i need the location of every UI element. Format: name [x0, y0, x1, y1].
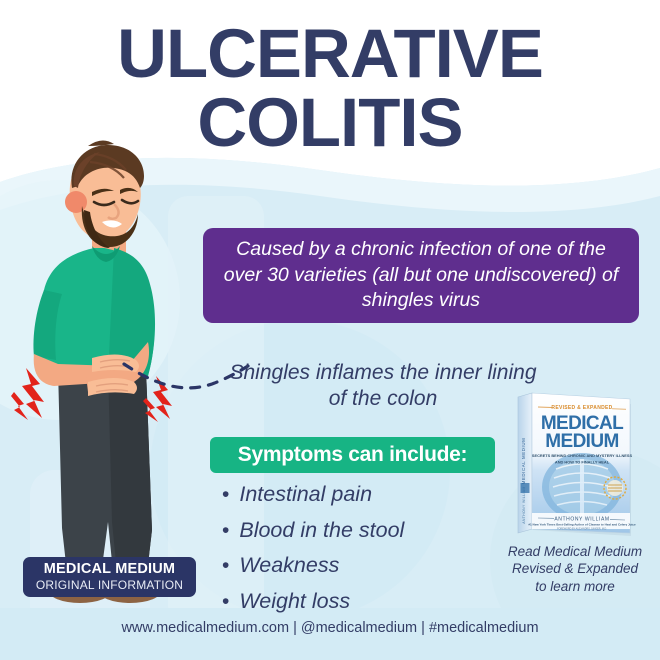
symptom-label: Intestinal pain [239, 484, 372, 506]
bullet-icon: • [222, 484, 229, 505]
bullet-icon: • [222, 555, 229, 576]
shingles-note: Shingles inflames the inner lining of th… [228, 360, 538, 413]
book-author-credit: #1 New York Times Best-Selling Author of… [528, 523, 636, 527]
book-foreword: FOREWORD BY ALEJANDRO JUNGER, M.D. [557, 528, 607, 531]
book-subtitle-line2: AND HOW TO FINALLY HEAL [555, 460, 610, 465]
symptoms-header-badge: Symptoms can include: [210, 437, 495, 473]
cause-card-text: Caused by a chronic infection of one of … [203, 237, 639, 315]
book-spine-title: MEDICAL MEDIUM [521, 438, 526, 485]
list-item: • Intestinal pain [222, 484, 404, 506]
symptoms-header-label: Symptoms can include: [238, 443, 467, 467]
symptom-label: Blood in the stool [239, 520, 404, 542]
symptom-label: Weight loss [239, 591, 350, 613]
list-item: • Blood in the stool [222, 520, 404, 542]
book-cover[interactable]: MEDICAL MEDIUM ANTHONY WILLIAM REVISED &… [512, 387, 636, 539]
badge-line-2: ORIGINAL INFORMATION [36, 579, 183, 593]
book-caption: Read Medical Medium Revised & Expanded t… [505, 543, 645, 595]
cause-card: Caused by a chronic infection of one of … [203, 228, 639, 323]
list-item: • Weakness [222, 555, 404, 577]
footer-links[interactable]: www.medicalmedium.com | @medicalmedium |… [0, 620, 660, 636]
book-title-line2: MEDIUM [545, 431, 618, 452]
bullet-icon: • [222, 591, 229, 612]
symptom-label: Weakness [239, 555, 339, 577]
infographic-canvas: ULCERATIVE COLITIS [0, 0, 660, 660]
list-item: • Weight loss [222, 591, 404, 613]
badge-line-1: MEDICAL MEDIUM [44, 562, 175, 578]
status-badge: MEDICAL MEDIUM ORIGINAL INFORMATION [23, 557, 196, 597]
symptoms-list: • Intestinal pain • Blood in the stool •… [222, 484, 404, 626]
bullet-icon: • [222, 520, 229, 541]
book-subtitle-line1: SECRETS BEHIND CHRONIC AND MYSTERY ILLNE… [532, 453, 633, 458]
book-banner: REVISED & EXPANDED [551, 405, 612, 411]
